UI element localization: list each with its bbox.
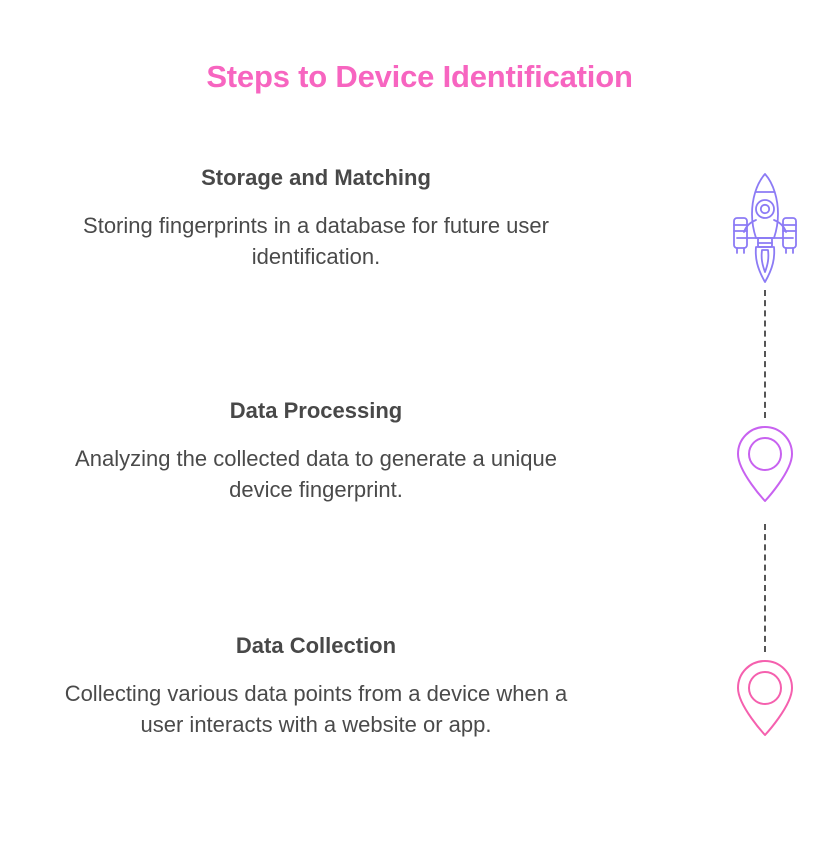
- step-body: Storing fingerprints in a database for f…: [6, 210, 626, 274]
- timeline-marker-data-collection: [690, 658, 839, 738]
- step-block-storage-and-matching: Storage and Matching Storing fingerprint…: [6, 164, 626, 273]
- step-body: Collecting various data points from a de…: [6, 678, 626, 742]
- step-block-data-collection: Data Collection Collecting various data …: [6, 632, 626, 741]
- dashed-line: [764, 524, 766, 652]
- timeline-connector-1: [690, 290, 839, 418]
- step-body: Analyzing the collected data to generate…: [6, 443, 626, 507]
- timeline-connector-2: [690, 524, 839, 652]
- step-block-data-processing: Data Processing Analyzing the collected …: [6, 397, 626, 506]
- location-pin-icon: [734, 424, 796, 504]
- timeline-marker-storage-and-matching: [690, 168, 839, 284]
- infographic-root: Steps to Device Identification Storage a…: [0, 0, 839, 866]
- step-heading: Data Processing: [6, 397, 626, 425]
- location-pin-icon: [734, 658, 796, 738]
- step-heading: Data Collection: [6, 632, 626, 660]
- steps-column: Storage and Matching Storing fingerprint…: [0, 0, 640, 866]
- rocket-icon: [729, 168, 801, 284]
- timeline-marker-data-processing: [690, 424, 839, 504]
- dashed-line: [764, 290, 766, 418]
- timeline-column: [690, 0, 839, 866]
- step-heading: Storage and Matching: [6, 164, 626, 192]
